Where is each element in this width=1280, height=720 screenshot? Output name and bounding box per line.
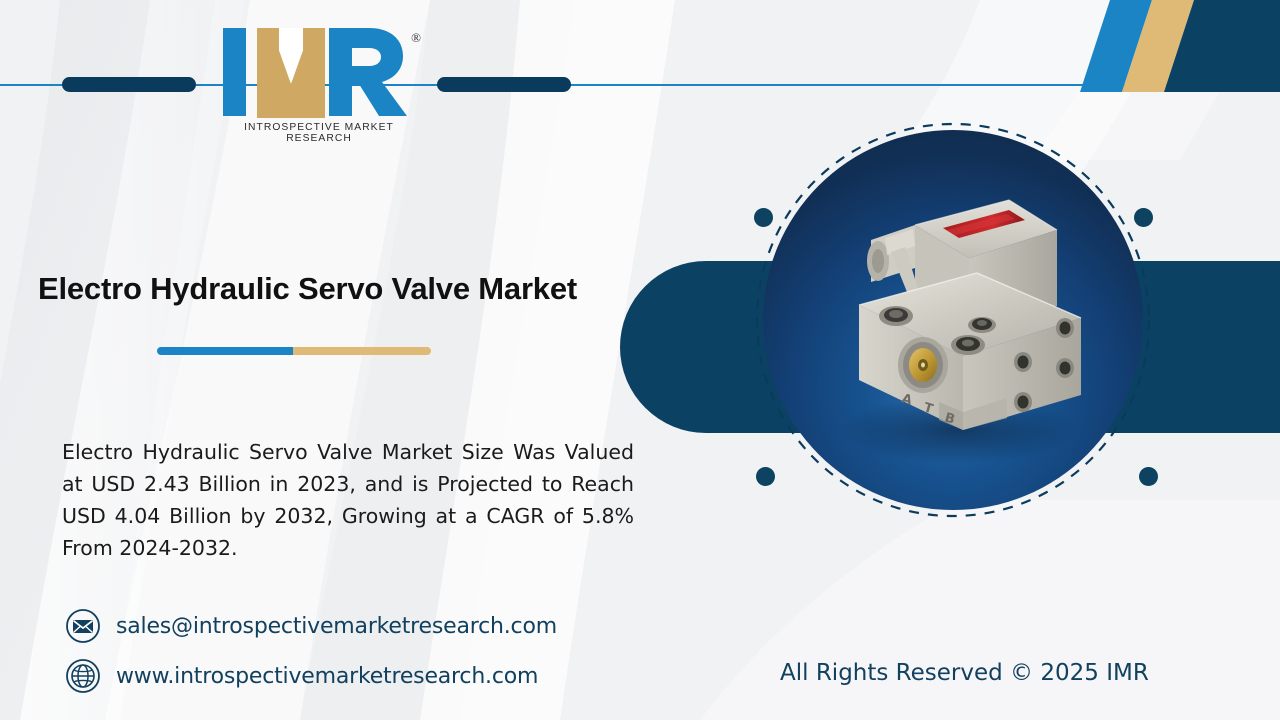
- contact-email-row[interactable]: sales@introspectivemarketresearch.com: [65, 608, 557, 644]
- accent-bar-gold-segment: [293, 347, 431, 355]
- title-accent-bar: [157, 347, 431, 355]
- accent-dot-bottom-left: [756, 467, 775, 486]
- registered-trademark-icon: ®: [411, 30, 421, 46]
- imr-logo: ® INTROSPECTIVE MARKET RESEARCH: [219, 26, 419, 146]
- accent-dot-top-right: [1134, 208, 1153, 227]
- contact-website-row[interactable]: www.introspectivemarketresearch.com: [65, 658, 538, 694]
- header-accent-bar-right: [437, 77, 571, 92]
- globe-icon: [65, 658, 101, 694]
- copyright-text: All Rights Reserved © 2025 IMR: [780, 660, 1149, 686]
- product-photo-circle: A T B: [763, 130, 1143, 510]
- servo-valve-product-image: A T B: [763, 130, 1143, 510]
- imr-logo-mark: [219, 26, 419, 118]
- product-visual-group: A T B: [700, 110, 1220, 610]
- header-accent-bar-left: [62, 77, 196, 92]
- accent-dot-bottom-right: [1139, 467, 1158, 486]
- corner-stripe-decoration: [1080, 0, 1280, 92]
- contact-website-text[interactable]: www.introspectivemarketresearch.com: [116, 664, 538, 689]
- accent-bar-blue-segment: [157, 347, 293, 355]
- logo-tagline: INTROSPECTIVE MARKET RESEARCH: [219, 122, 419, 144]
- accent-dot-top-left: [754, 208, 773, 227]
- banner-canvas: ® INTROSPECTIVE MARKET RESEARCH: [0, 0, 1280, 720]
- contact-email-text[interactable]: sales@introspectivemarketresearch.com: [116, 614, 557, 639]
- envelope-icon: [65, 608, 101, 644]
- page-title: Electro Hydraulic Servo Valve Market: [38, 270, 638, 307]
- report-description: Electro Hydraulic Servo Valve Market Siz…: [62, 436, 634, 564]
